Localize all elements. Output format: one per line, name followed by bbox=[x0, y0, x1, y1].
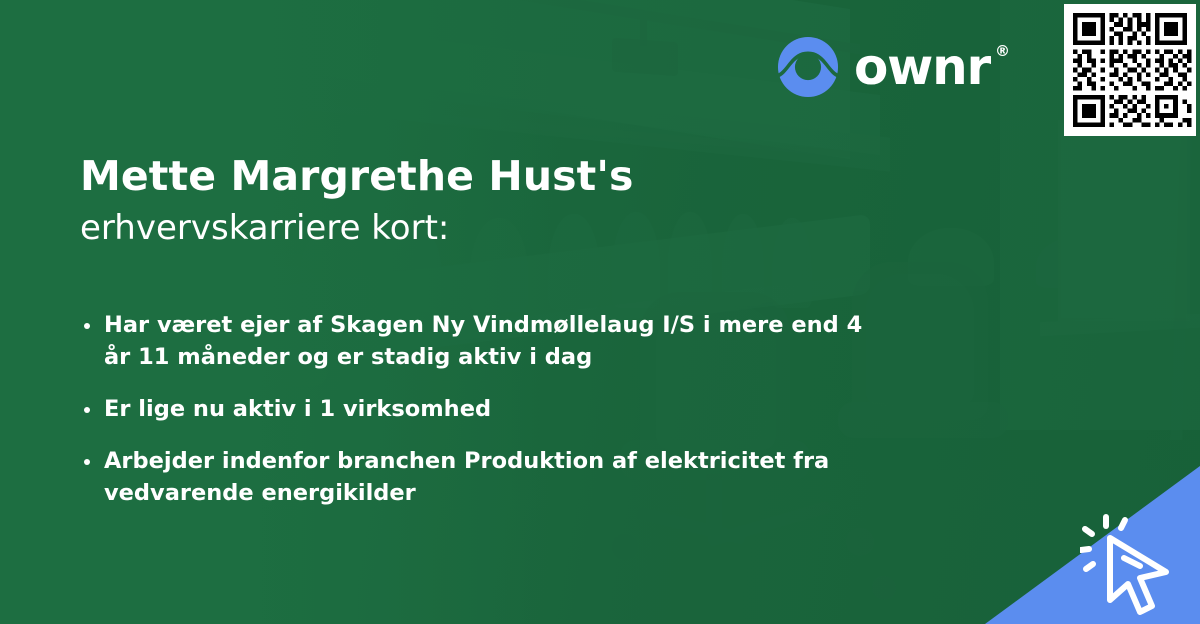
qr-code[interactable] bbox=[1064, 4, 1196, 136]
title-line-primary: Mette Margrethe Hust's bbox=[80, 152, 920, 200]
bullet-dot-icon bbox=[84, 459, 90, 465]
career-summary-card: Mette Margrethe Hust's erhvervskarriere … bbox=[0, 0, 1200, 624]
list-item-text: Arbejder indenfor branchen Produktion af… bbox=[104, 448, 829, 506]
qr-code-image bbox=[1064, 4, 1196, 136]
list-item: Arbejder indenfor branchen Produktion af… bbox=[80, 446, 870, 510]
ownr-wordmark: ownr ® bbox=[854, 42, 1010, 92]
page-title: Mette Margrethe Hust's erhvervskarriere … bbox=[80, 152, 920, 249]
bullet-dot-icon bbox=[84, 407, 90, 413]
career-facts-list: Har været ejer af Skagen Ny Vindmøllelau… bbox=[80, 310, 870, 510]
list-item-text: Er lige nu aktiv i 1 virksomhed bbox=[104, 396, 491, 422]
title-line-secondary: erhvervskarriere kort: bbox=[80, 208, 920, 249]
bullet-dot-icon bbox=[84, 323, 90, 329]
click-cursor-icon bbox=[1080, 514, 1192, 618]
ownr-logo[interactable]: ownr ® bbox=[777, 36, 1010, 98]
ownr-circular-logo-mark-icon bbox=[777, 36, 839, 98]
list-item-text: Har været ejer af Skagen Ny Vindmøllelau… bbox=[104, 312, 862, 370]
registered-trademark-icon: ® bbox=[995, 44, 1010, 59]
ownr-wordmark-text: ownr bbox=[854, 38, 990, 96]
list-item: Har været ejer af Skagen Ny Vindmøllelau… bbox=[80, 310, 870, 374]
list-item: Er lige nu aktiv i 1 virksomhed bbox=[80, 394, 870, 426]
